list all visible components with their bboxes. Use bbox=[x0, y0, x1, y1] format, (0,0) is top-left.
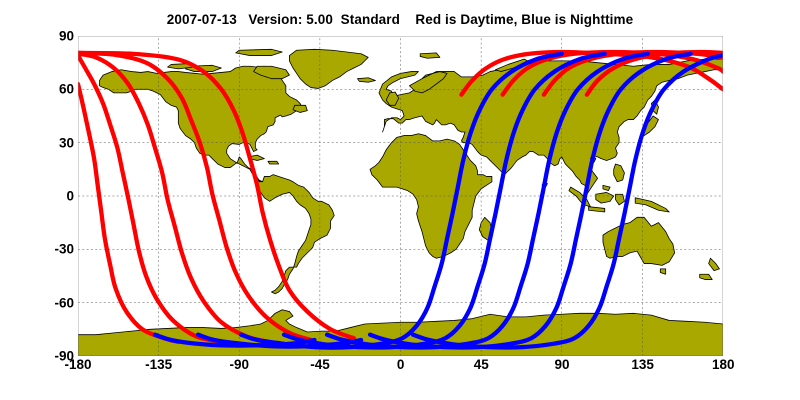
y-tick-30: 30 bbox=[59, 143, 74, 157]
y-tick-0: 0 bbox=[66, 196, 74, 210]
x-tick-90: 90 bbox=[532, 358, 592, 372]
x-tick-0: 0 bbox=[371, 358, 431, 372]
x-tick-180: 180 bbox=[693, 358, 753, 372]
x-tick--90: -90 bbox=[209, 358, 269, 372]
x-tick--135: -135 bbox=[129, 358, 189, 372]
x-tick--180: -180 bbox=[48, 358, 108, 372]
x-tick-45: 45 bbox=[451, 358, 511, 372]
plot-area bbox=[78, 36, 723, 356]
land-svalbard bbox=[420, 53, 440, 58]
map-canvas bbox=[78, 36, 723, 356]
y-tick-60: 60 bbox=[59, 89, 74, 103]
y-tick-90: 90 bbox=[59, 36, 74, 50]
x-tick-135: 135 bbox=[613, 358, 673, 372]
y-tick--30: -30 bbox=[54, 249, 74, 263]
terminator-world-map-figure: 2007-07-13 Version: 5.00 Standard Red is… bbox=[0, 0, 800, 400]
land-hispaniola bbox=[268, 161, 279, 164]
chart-title: 2007-07-13 Version: 5.00 Standard Red is… bbox=[0, 12, 800, 27]
x-tick--45: -45 bbox=[290, 358, 350, 372]
y-tick--60: -60 bbox=[54, 303, 74, 317]
